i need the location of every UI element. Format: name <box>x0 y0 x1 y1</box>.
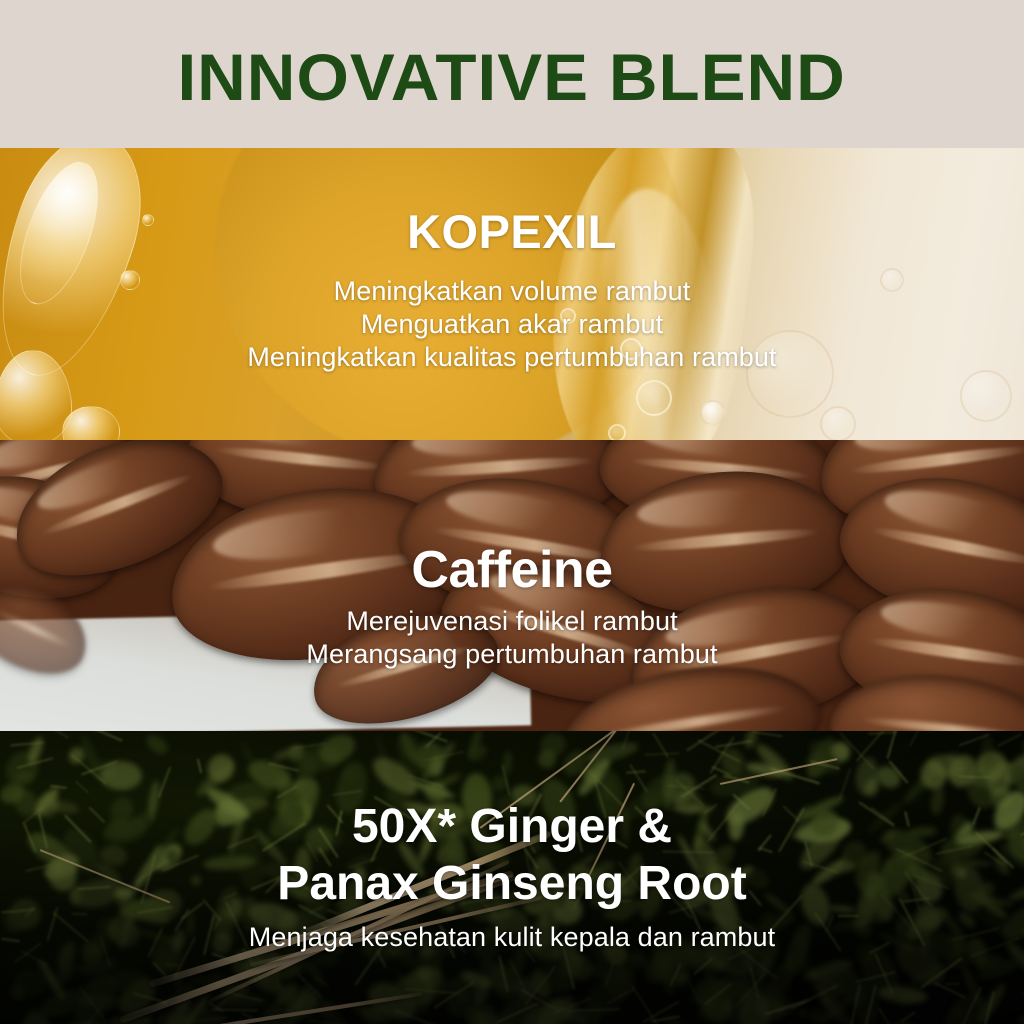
panel-ginseng-title-line-2: Panax Ginseng Root <box>277 860 746 909</box>
panel-kopexil-line-1: Meningkatkan volume rambut <box>334 275 691 308</box>
panel-ginseng-title-line-1: 50X* Ginger & <box>352 803 672 852</box>
panel-caffeine-title: Caffeine <box>411 544 612 597</box>
panel-kopexil-line-3: Meningkatkan kualitas pertumbuhan rambut <box>247 341 776 374</box>
panel-caffeine-line-1: Merejuvenasi folikel rambut <box>346 605 677 638</box>
panel-ginseng-line-1: Menjaga kesehatan kulit kepala dan rambu… <box>249 921 775 954</box>
poster-header: INNOVATIVE BLEND <box>0 0 1024 148</box>
panel-caffeine-line-2: Merangsang pertumbuhan rambut <box>306 638 717 671</box>
page-title: INNOVATIVE BLEND <box>178 38 846 110</box>
panel-caffeine: Caffeine Merejuvenasi folikel rambut Mer… <box>0 440 1024 731</box>
ingredient-poster: INNOVATIVE BLEND <box>0 0 1024 1024</box>
panel-kopexil-line-2: Menguatkan akar rambut <box>361 308 663 341</box>
panel-kopexil: KOPEXIL Meningkatkan volume rambut Mengu… <box>0 148 1024 440</box>
panel-kopexil-title: KOPEXIL <box>407 208 617 256</box>
panel-ginseng: 50X* Ginger & Panax Ginseng Root Menjaga… <box>0 731 1024 1024</box>
